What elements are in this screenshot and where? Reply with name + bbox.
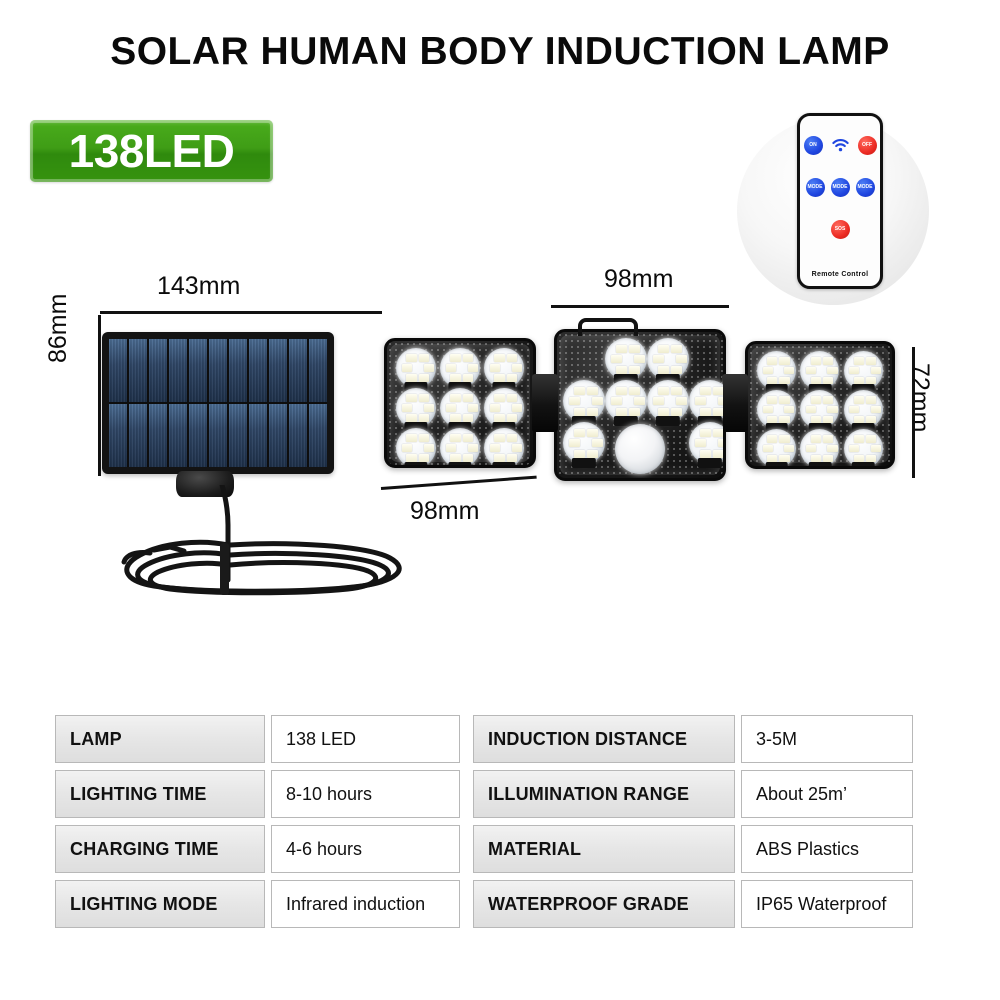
led-chip: [463, 374, 473, 382]
led-cluster: [844, 429, 883, 468]
led-chip: [866, 357, 876, 364]
led-chip: [406, 414, 416, 422]
led-chip: [823, 455, 833, 462]
solar-cell: [289, 404, 307, 467]
led-chip: [402, 444, 412, 452]
led-chip: [784, 367, 794, 374]
led-chip: [700, 408, 711, 416]
led-cluster: [647, 380, 689, 422]
led-chip: [700, 387, 711, 395]
led-count-badge-label: 138LED: [69, 128, 235, 174]
led-chip: [854, 396, 864, 403]
led-chip: [811, 435, 821, 442]
led-chip: [512, 444, 522, 452]
led-chip: [871, 367, 881, 374]
led-cluster: [605, 338, 647, 380]
led-chip: [616, 408, 627, 416]
led-chip: [616, 387, 627, 395]
led-chip: [779, 377, 789, 384]
led-chip: [450, 454, 460, 462]
spec-value: IP65 Waterproof: [741, 880, 913, 928]
remote-on-button[interactable]: ON: [804, 136, 823, 155]
dimension-label-head-width-top: 98mm: [604, 265, 673, 294]
led-chip: [587, 408, 598, 416]
led-chip: [507, 374, 517, 382]
solar-cell: [129, 404, 147, 467]
led-chip: [827, 367, 837, 374]
solar-cell: [309, 404, 327, 467]
solar-cell: [249, 404, 267, 467]
spec-row: LIGHTING TIME8-10 hours: [55, 770, 460, 818]
led-chip: [866, 455, 876, 462]
led-chip: [463, 454, 473, 462]
led-chip: [463, 394, 473, 402]
led-chip: [446, 404, 456, 412]
led-chip: [494, 394, 504, 402]
led-chip: [629, 366, 640, 374]
led-chip: [616, 366, 627, 374]
solar-cell: [169, 404, 187, 467]
led-chip: [653, 397, 664, 405]
solar-cell: [289, 339, 307, 402]
led-chip: [446, 364, 456, 372]
led-chip: [406, 354, 416, 362]
led-cluster: [689, 422, 726, 464]
led-chip: [419, 394, 429, 402]
led-chip: [779, 416, 789, 423]
led-bracket: [492, 462, 515, 468]
led-chip: [587, 429, 598, 437]
pir-motion-sensor: [615, 424, 665, 474]
led-chip: [494, 434, 504, 442]
power-cable: [110, 485, 450, 600]
spec-table-right: INDUCTION DISTANCE3-5MILLUMINATION RANGE…: [473, 715, 913, 928]
led-chip: [587, 450, 598, 458]
dimension-label-head-height: 72mm: [905, 363, 934, 432]
led-chip: [713, 429, 724, 437]
led-chip: [424, 364, 434, 372]
remote-off-button[interactable]: OFF: [858, 136, 877, 155]
led-chip: [866, 416, 876, 423]
led-chip: [424, 444, 434, 452]
led-chip: [767, 416, 777, 423]
led-chip: [592, 439, 603, 447]
led-chip: [671, 387, 682, 395]
led-chip: [718, 439, 726, 447]
led-chip: [866, 435, 876, 442]
led-chip: [854, 416, 864, 423]
spec-key: INDUCTION DISTANCE: [473, 715, 735, 763]
led-chip: [463, 354, 473, 362]
solar-cell: [249, 339, 267, 402]
lamp-head-center: [554, 329, 726, 481]
led-chip: [767, 357, 777, 364]
led-cluster: [440, 388, 480, 428]
solar-cell: [209, 404, 227, 467]
led-chip: [849, 445, 859, 452]
led-chip: [634, 355, 645, 363]
led-cluster: [800, 390, 839, 429]
led-count-badge: 138LED: [30, 120, 273, 182]
solar-cell-grid: [109, 339, 327, 467]
spec-value: 8-10 hours: [271, 770, 460, 818]
lamp-hinge-right: [722, 374, 748, 432]
led-chip: [695, 397, 706, 405]
led-chip: [419, 414, 429, 422]
led-chip: [700, 429, 711, 437]
spec-row: LAMP138 LED: [55, 715, 460, 763]
dimension-line-solar-width: [100, 311, 382, 314]
led-chip: [849, 367, 859, 374]
led-chip: [587, 387, 598, 395]
led-chip: [574, 387, 585, 395]
led-chip: [671, 408, 682, 416]
remote-control-illustration: ON OFF MODE MODE MODE SOS Remote Control: [737, 117, 929, 305]
spec-key: WATERPROOF GRADE: [473, 880, 735, 928]
remote-control-caption: Remote Control: [800, 271, 880, 278]
led-chip: [695, 439, 706, 447]
led-chip: [494, 414, 504, 422]
led-cluster: [563, 422, 605, 464]
led-cluster: [647, 338, 689, 380]
led-chip: [779, 357, 789, 364]
lamp-hinge-left: [532, 374, 558, 432]
led-chip: [779, 435, 789, 442]
led-cluster: [800, 429, 839, 468]
led-chip: [767, 396, 777, 403]
led-chip: [507, 414, 517, 422]
led-chip: [468, 444, 478, 452]
led-chip: [463, 414, 473, 422]
remote-mode1-button[interactable]: MODE: [806, 178, 825, 197]
led-chip: [634, 397, 645, 405]
led-chip: [507, 354, 517, 362]
led-chip: [406, 434, 416, 442]
solar-cell: [189, 404, 207, 467]
solar-cell: [189, 339, 207, 402]
led-chip: [574, 450, 585, 458]
led-chip: [611, 397, 622, 405]
led-chip: [676, 355, 687, 363]
led-cluster-grid-left: [387, 341, 533, 465]
led-cluster: [844, 390, 883, 429]
remote-mode2-button[interactable]: MODE: [831, 178, 850, 197]
led-chip: [767, 377, 777, 384]
solar-cell: [309, 339, 327, 402]
spec-row: ILLUMINATION RANGEAbout 25m’: [473, 770, 913, 818]
led-bracket: [572, 458, 596, 468]
led-chip: [763, 406, 773, 413]
led-cluster: [440, 428, 480, 468]
led-chip: [419, 374, 429, 382]
spec-value: ABS Plastics: [741, 825, 913, 873]
solar-cell: [109, 339, 127, 402]
lamp-head-right: [745, 341, 895, 469]
led-chip: [611, 355, 622, 363]
led-cluster: [605, 380, 647, 422]
led-chip: [854, 377, 864, 384]
led-chip: [767, 455, 777, 462]
spec-key: LIGHTING TIME: [55, 770, 265, 818]
led-chip: [406, 394, 416, 402]
spec-value: 138 LED: [271, 715, 460, 763]
led-bracket: [404, 462, 427, 468]
led-chip: [823, 377, 833, 384]
led-chip: [827, 406, 837, 413]
led-chip: [784, 406, 794, 413]
spec-key: CHARGING TIME: [55, 825, 265, 873]
spec-key: MATERIAL: [473, 825, 735, 873]
led-cluster: [563, 380, 605, 422]
led-chip: [823, 435, 833, 442]
led-cluster: [844, 351, 883, 390]
led-chip: [402, 364, 412, 372]
led-chip: [574, 429, 585, 437]
led-chip: [854, 357, 864, 364]
led-chip: [507, 434, 517, 442]
led-cluster: [396, 388, 436, 428]
led-bracket: [852, 462, 875, 469]
page-title: SOLAR HUMAN BODY INDUCTION LAMP: [0, 30, 1000, 74]
led-chip: [658, 408, 669, 416]
led-chip: [406, 454, 416, 462]
led-bracket: [809, 462, 832, 469]
led-chip: [419, 454, 429, 462]
led-chip: [424, 404, 434, 412]
led-chip: [406, 374, 416, 382]
remote-button-row-2: MODE MODE MODE: [800, 178, 880, 197]
led-chip: [811, 396, 821, 403]
dimension-line-head-width-top: [551, 305, 729, 308]
led-chip: [763, 367, 773, 374]
solar-cell: [269, 404, 287, 467]
spec-row: LIGHTING MODEInfrared induction: [55, 880, 460, 928]
remote-control-body: ON OFF MODE MODE MODE SOS Remote Control: [797, 113, 883, 289]
led-chip: [450, 394, 460, 402]
lamp-head-left: [384, 338, 536, 468]
led-chip: [811, 377, 821, 384]
led-chip: [713, 408, 724, 416]
remote-wifi-icon: [831, 136, 850, 155]
spec-key: LIGHTING MODE: [55, 880, 265, 928]
led-chip: [854, 435, 864, 442]
led-chip: [446, 444, 456, 452]
led-bracket: [656, 416, 680, 426]
led-chip: [871, 406, 881, 413]
led-chip: [779, 396, 789, 403]
led-chip: [763, 445, 773, 452]
led-cluster: [440, 348, 480, 388]
led-cluster: [757, 390, 796, 429]
solar-cell: [149, 404, 167, 467]
solar-cell: [149, 339, 167, 402]
led-chip: [592, 397, 603, 405]
led-chip: [823, 416, 833, 423]
led-chip: [653, 355, 664, 363]
led-bracket: [765, 462, 788, 469]
led-cluster-grid-right: [748, 344, 892, 466]
led-chip: [671, 345, 682, 353]
led-chip: [871, 445, 881, 452]
spec-row: MATERIALABS Plastics: [473, 825, 913, 873]
led-chip: [676, 397, 687, 405]
led-chip: [616, 345, 627, 353]
led-cluster: [396, 428, 436, 468]
led-chip: [849, 406, 859, 413]
spec-value: 4-6 hours: [271, 825, 460, 873]
remote-button-row-1: ON OFF: [800, 136, 880, 155]
solar-cell: [169, 339, 187, 402]
led-chip: [827, 445, 837, 452]
spec-row: WATERPROOF GRADEIP65 Waterproof: [473, 880, 913, 928]
solar-cell: [109, 404, 127, 467]
led-bracket: [448, 462, 471, 468]
led-chip: [468, 404, 478, 412]
led-chip: [450, 434, 460, 442]
led-chip: [811, 357, 821, 364]
led-chip: [700, 450, 711, 458]
led-chip: [811, 416, 821, 423]
led-chip: [468, 364, 478, 372]
led-chip: [490, 364, 500, 372]
led-chip: [866, 377, 876, 384]
led-chip: [658, 366, 669, 374]
led-cluster: [757, 429, 796, 468]
led-chip: [494, 374, 504, 382]
led-chip: [507, 454, 517, 462]
led-cluster: [689, 380, 726, 422]
remote-sos-button[interactable]: SOS: [831, 220, 850, 239]
led-chip: [463, 434, 473, 442]
led-chip: [866, 396, 876, 403]
led-chip: [450, 414, 460, 422]
led-chip: [806, 406, 816, 413]
led-cluster: [757, 351, 796, 390]
led-chip: [507, 394, 517, 402]
led-chip: [490, 404, 500, 412]
led-chip: [574, 408, 585, 416]
solar-cell: [129, 339, 147, 402]
led-cluster: [484, 428, 524, 468]
spec-value: About 25m’: [741, 770, 913, 818]
led-chip: [784, 445, 794, 452]
led-chip: [658, 387, 669, 395]
spec-value: Infrared induction: [271, 880, 460, 928]
dimension-label-solar-width: 143mm: [157, 272, 240, 301]
led-chip: [823, 357, 833, 364]
led-chip: [806, 367, 816, 374]
spec-value: 3-5M: [741, 715, 913, 763]
led-chip: [450, 374, 460, 382]
led-chip: [569, 397, 580, 405]
spec-row: CHARGING TIME4-6 hours: [55, 825, 460, 873]
led-chip: [494, 454, 504, 462]
spec-key: ILLUMINATION RANGE: [473, 770, 735, 818]
led-chip: [629, 387, 640, 395]
led-cluster: [800, 351, 839, 390]
led-chip: [569, 439, 580, 447]
led-cluster: [484, 348, 524, 388]
dimension-line-head-height: [912, 347, 915, 478]
solar-cell: [229, 404, 247, 467]
led-bracket: [698, 458, 722, 468]
led-chip: [512, 404, 522, 412]
spec-row: INDUCTION DISTANCE3-5M: [473, 715, 913, 763]
led-chip: [490, 444, 500, 452]
led-chip: [767, 435, 777, 442]
led-chip: [419, 354, 429, 362]
led-chip: [854, 455, 864, 462]
led-chip: [419, 434, 429, 442]
led-chip: [671, 366, 682, 374]
spec-table-left: LAMP138 LEDLIGHTING TIME8-10 hoursCHARGI…: [55, 715, 460, 928]
dimension-line-solar-height: [98, 315, 101, 476]
dimension-label-solar-height: 86mm: [44, 294, 73, 363]
led-chip: [806, 445, 816, 452]
solar-cell: [209, 339, 227, 402]
led-cluster: [484, 388, 524, 428]
spec-key: LAMP: [55, 715, 265, 763]
remote-button-row-3: SOS: [800, 220, 880, 239]
led-chip: [629, 345, 640, 353]
solar-panel: [102, 332, 334, 474]
led-chip: [779, 455, 789, 462]
remote-mode3-button[interactable]: MODE: [856, 178, 875, 197]
solar-cell: [269, 339, 287, 402]
led-chip: [494, 354, 504, 362]
led-chip: [713, 387, 724, 395]
led-chip: [450, 354, 460, 362]
led-chip: [811, 455, 821, 462]
led-cluster: [396, 348, 436, 388]
led-chip: [512, 364, 522, 372]
led-chip: [402, 404, 412, 412]
led-chip: [713, 450, 724, 458]
solar-cell: [229, 339, 247, 402]
led-chip: [823, 396, 833, 403]
led-chip: [629, 408, 640, 416]
led-chip: [658, 345, 669, 353]
